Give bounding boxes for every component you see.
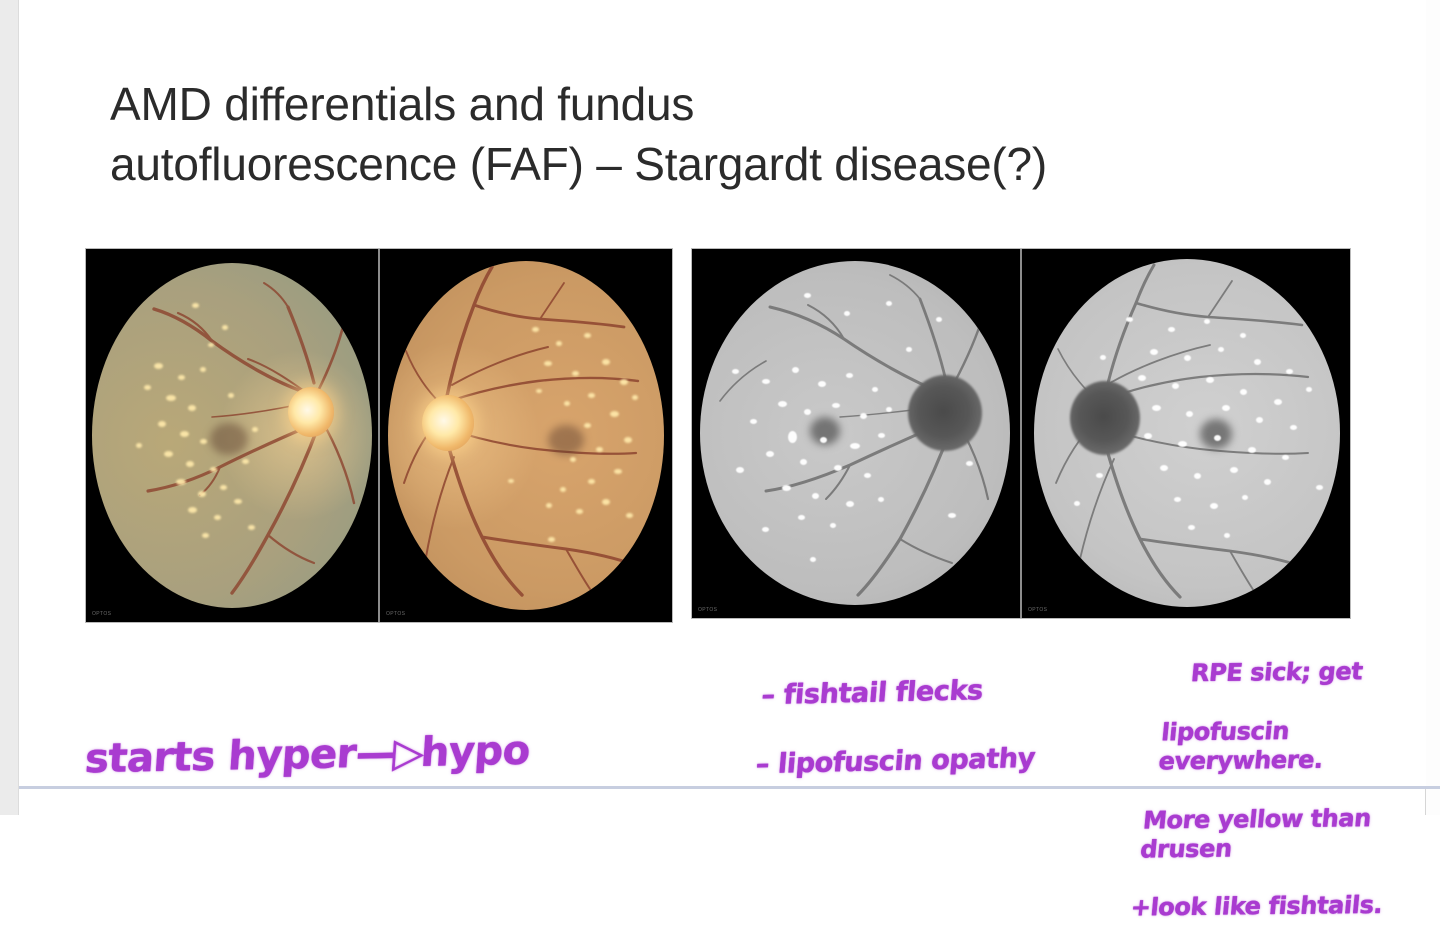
annotation-left-arrow: —▷	[354, 730, 422, 777]
annotation-right-line-4: +look like fishtails.	[1129, 891, 1416, 923]
faf-pair: OPTOS	[692, 249, 1350, 618]
page-title: AMD differentials and fundus autofluores…	[110, 75, 1340, 195]
slide-surface: AMD differentials and fundus autofluores…	[19, 0, 1426, 786]
image-watermark: OPTOS	[698, 607, 717, 613]
annotation-left-after: hypo	[419, 728, 531, 776]
faf-left-eye[interactable]: OPTOS	[692, 249, 1020, 618]
annotation-right-line-2: lipofuscin everywhere.	[1143, 715, 1433, 777]
fundus-figure-strip: OPTOS	[19, 249, 1426, 625]
viewer-left-gutter	[0, 0, 19, 815]
annotation-progression: starts hyper—▷hypo	[84, 682, 535, 783]
color-fundus-pair: OPTOS	[86, 249, 672, 622]
image-watermark: OPTOS	[92, 611, 111, 617]
annotation-right-line-3: More yellow than drusen	[1135, 803, 1425, 865]
annotation-rpe-lipofuscin: RPE sick; get lipofuscin everywhere. Mor…	[1127, 628, 1440, 952]
image-watermark: OPTOS	[1028, 607, 1047, 613]
image-watermark: OPTOS	[386, 611, 405, 617]
annotation-middle-line-1: – fishtail flecks	[760, 672, 1042, 713]
color-fundus-right-eye[interactable]: OPTOS	[380, 249, 672, 622]
annotation-middle-line-2: – lipofuscin opathy	[754, 741, 1036, 782]
color-fundus-left-eye[interactable]: OPTOS	[86, 249, 378, 622]
annotation-faf-findings: – fishtail flecks – lipofuscin opathy	[752, 638, 1045, 817]
annotation-right-line-1: RPE sick; get	[1152, 657, 1439, 689]
slide-separator	[19, 786, 1440, 789]
slide-viewer: AMD differentials and fundus autofluores…	[0, 0, 1440, 815]
annotation-left-before: starts hyper	[84, 731, 358, 782]
faf-right-eye[interactable]: OPTOS	[1022, 249, 1350, 618]
